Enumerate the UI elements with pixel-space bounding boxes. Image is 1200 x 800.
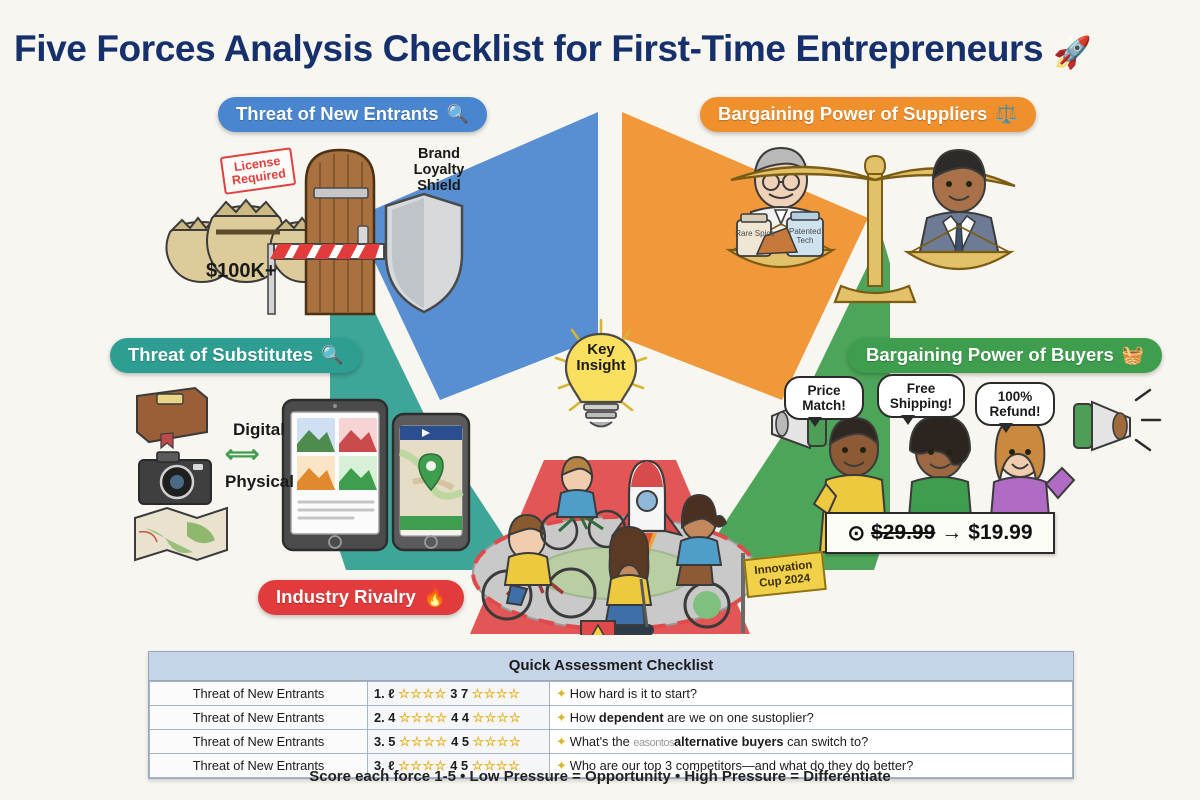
footer-note: Score each force 1-5 • Low Pressure = Op… <box>0 768 1200 785</box>
illustration-new-entrants: License Required $100K+ Brand Loyalty Sh… <box>150 140 495 325</box>
cell-question: ✦How hard is it to start? <box>550 682 1073 706</box>
sparkle-icon: ✦ <box>556 734 567 749</box>
cell-question: ✦What's the easontosalternative buyers c… <box>550 730 1073 754</box>
star-rating-left[interactable]: ☆☆☆☆ <box>399 734 448 749</box>
infographic-canvas: Five Forces Analysis Checklist for First… <box>0 0 1200 800</box>
innovation-cup-flag: Innovation Cup 2024 <box>743 551 827 598</box>
tag-hole-icon: ⊙ <box>847 521 865 546</box>
swap-arrow-icon: ⟺ <box>225 440 259 469</box>
table-row[interactable]: Threat of New Entrants 3. 5 ☆☆☆☆ 4 5 ☆☆☆… <box>150 730 1073 754</box>
force-badge-buyers[interactable]: Bargaining Power of Buyers 🧺 <box>848 338 1162 373</box>
table-title: Quick Assessment Checklist <box>149 652 1073 681</box>
price-new: $19.99 <box>968 521 1032 545</box>
bubble-2-line1: Free <box>907 381 936 396</box>
table-row[interactable]: Threat of New Entrants 1. ℓ ☆☆☆☆ 3 7 ☆☆☆… <box>150 682 1073 706</box>
price-old: $29.99 <box>871 521 935 545</box>
question-smudge: easontos <box>633 737 674 749</box>
fire-icon: 🔥 <box>424 587 446 608</box>
buyer-demand-bubble-2: Free Shipping! <box>877 374 965 418</box>
cell-force: Threat of New Entrants <box>150 706 368 730</box>
rocket-icon: 🚀 <box>1053 35 1091 70</box>
jar-label-rare-spice: Rare Spice <box>733 230 777 239</box>
magnifier-icon: 🔍 <box>447 104 469 125</box>
cell-force: Threat of New Entrants <box>150 682 368 706</box>
rivalry-race-art <box>455 445 795 635</box>
bubble-1-line2: Match! <box>802 398 846 413</box>
bubble-3-line2: Refund! <box>990 404 1041 419</box>
shield-line2: Loyalty <box>414 162 465 178</box>
force-label-new-entrants: Threat of New Entrants <box>236 103 439 125</box>
cell-question: ✦How dependent are we on one sustoplier? <box>550 706 1073 730</box>
score-mid-a: 4 <box>451 710 458 725</box>
force-label-substitutes: Threat of Substitutes <box>128 344 313 366</box>
brand-loyalty-shield-icon <box>386 194 462 312</box>
capital-requirement-label: $100K+ <box>206 260 277 283</box>
map-icon <box>135 508 227 560</box>
score-prefix: 1. <box>374 686 385 701</box>
scales-icon: ⚖️ <box>995 104 1017 125</box>
question-post: are we on one sustoplier? <box>664 710 814 725</box>
score-glyph: 5 <box>388 734 395 749</box>
star-rating-left[interactable]: ☆☆☆☆ <box>399 710 448 725</box>
camera-icon <box>139 452 211 504</box>
lightbulb-icon <box>548 318 654 436</box>
bubble-2-line2: Shipping! <box>890 396 952 411</box>
star-rating-left[interactable]: ☆☆☆☆ <box>398 686 447 701</box>
cell-score[interactable]: 3. 5 ☆☆☆☆ 4 5 ☆☆☆☆ <box>368 730 550 754</box>
score-mid-a: 3 <box>450 686 457 701</box>
force-badge-suppliers[interactable]: Bargaining Power of Suppliers ⚖️ <box>700 97 1036 132</box>
key-insight-line2: Insight <box>576 357 625 374</box>
question-post: can switch to? <box>784 734 869 749</box>
star-rating-right[interactable]: ☆☆☆☆ <box>473 710 522 725</box>
score-glyph: 4 <box>388 710 395 725</box>
question-pre: How <box>570 710 599 725</box>
tablet-icon <box>283 400 387 550</box>
force-badge-substitutes[interactable]: Threat of Substitutes 🔍 <box>110 338 361 373</box>
force-label-rivalry: Industry Rivalry <box>276 586 416 608</box>
checklist-table: Threat of New Entrants 1. ℓ ☆☆☆☆ 3 7 ☆☆☆… <box>149 681 1073 778</box>
force-label-buyers: Bargaining Power of Buyers <box>866 344 1114 366</box>
cell-score[interactable]: 2. 4 ☆☆☆☆ 4 4 ☆☆☆☆ <box>368 706 550 730</box>
page-title: Five Forces Analysis Checklist for First… <box>14 28 1194 71</box>
locked-door-icon <box>306 150 374 314</box>
quick-assessment-table: Quick Assessment Checklist Threat of New… <box>148 651 1074 779</box>
shield-label: Brand Loyalty Shield <box>400 146 478 195</box>
buyer-demand-bubble-3: 100% Refund! <box>975 382 1055 426</box>
buyer-demand-bubble-1: Price Match! <box>784 376 864 420</box>
cell-force: Threat of New Entrants <box>150 730 368 754</box>
key-insight-badge: Key Insight <box>548 318 654 436</box>
force-badge-rivalry[interactable]: Industry Rivalry 🔥 <box>258 580 464 615</box>
score-prefix: 3. <box>374 734 385 749</box>
score-mid-a: 4 <box>451 734 458 749</box>
force-badge-new-entrants[interactable]: Threat of New Entrants 🔍 <box>218 97 487 132</box>
score-prefix: 2. <box>374 710 385 725</box>
question-pre: How hard is it to start? <box>570 686 697 701</box>
price-tag: ⊙ $29.99 → $19.99 <box>825 512 1055 554</box>
sparkle-icon: ✦ <box>556 710 567 725</box>
illustration-substitutes: Digital ⟺ Physical <box>125 382 480 567</box>
table-row[interactable]: Threat of New Entrants 2. 4 ☆☆☆☆ 4 4 ☆☆☆… <box>150 706 1073 730</box>
bubble-3-line1: 100% <box>998 389 1033 404</box>
magnifier-icon: 🔍 <box>321 345 343 366</box>
substitute-label-physical: Physical <box>225 472 294 492</box>
substitute-label-digital: Digital <box>233 420 285 440</box>
star-rating-right[interactable]: ☆☆☆☆ <box>473 734 522 749</box>
substitutes-art <box>125 382 480 567</box>
megaphone-icon-right <box>1074 390 1160 450</box>
score-glyph: ℓ <box>388 686 394 701</box>
score-mid-b: 4 <box>462 710 469 725</box>
illustration-buyers: Price Match! Free Shipping! 100% Refund!… <box>770 372 1180 557</box>
illustration-suppliers: Rare Spice Patented Tech <box>695 140 1040 325</box>
page-title-text: Five Forces Analysis Checklist for First… <box>14 28 1043 69</box>
question-bold: alternative buyers <box>674 734 784 749</box>
question-pre: What's the <box>570 734 634 749</box>
score-mid-b: 5 <box>462 734 469 749</box>
question-bold: dependent <box>599 710 664 725</box>
bubble-1-line1: Price <box>807 383 840 398</box>
competitor-scooter <box>603 527 653 635</box>
basket-icon: 🧺 <box>1122 345 1144 366</box>
jar-label-patented-tech: Patented Tech <box>783 228 827 246</box>
key-insight-label: Key Insight <box>548 342 654 374</box>
book-icon <box>137 388 207 448</box>
shield-line3: Shield <box>417 178 461 194</box>
force-label-suppliers: Bargaining Power of Suppliers <box>718 103 987 125</box>
cell-score[interactable]: 1. ℓ ☆☆☆☆ 3 7 ☆☆☆☆ <box>368 682 550 706</box>
key-insight-line1: Key <box>587 341 615 358</box>
price-arrow-icon: → <box>941 521 962 545</box>
shield-line1: Brand <box>418 146 460 162</box>
warning-marker-icon <box>581 621 615 635</box>
sparkle-icon: ✦ <box>556 686 567 701</box>
score-mid-b: 7 <box>461 686 468 701</box>
star-rating-right[interactable]: ☆☆☆☆ <box>472 686 521 701</box>
illustration-rivalry: Innovation Cup 2024 <box>455 445 795 635</box>
